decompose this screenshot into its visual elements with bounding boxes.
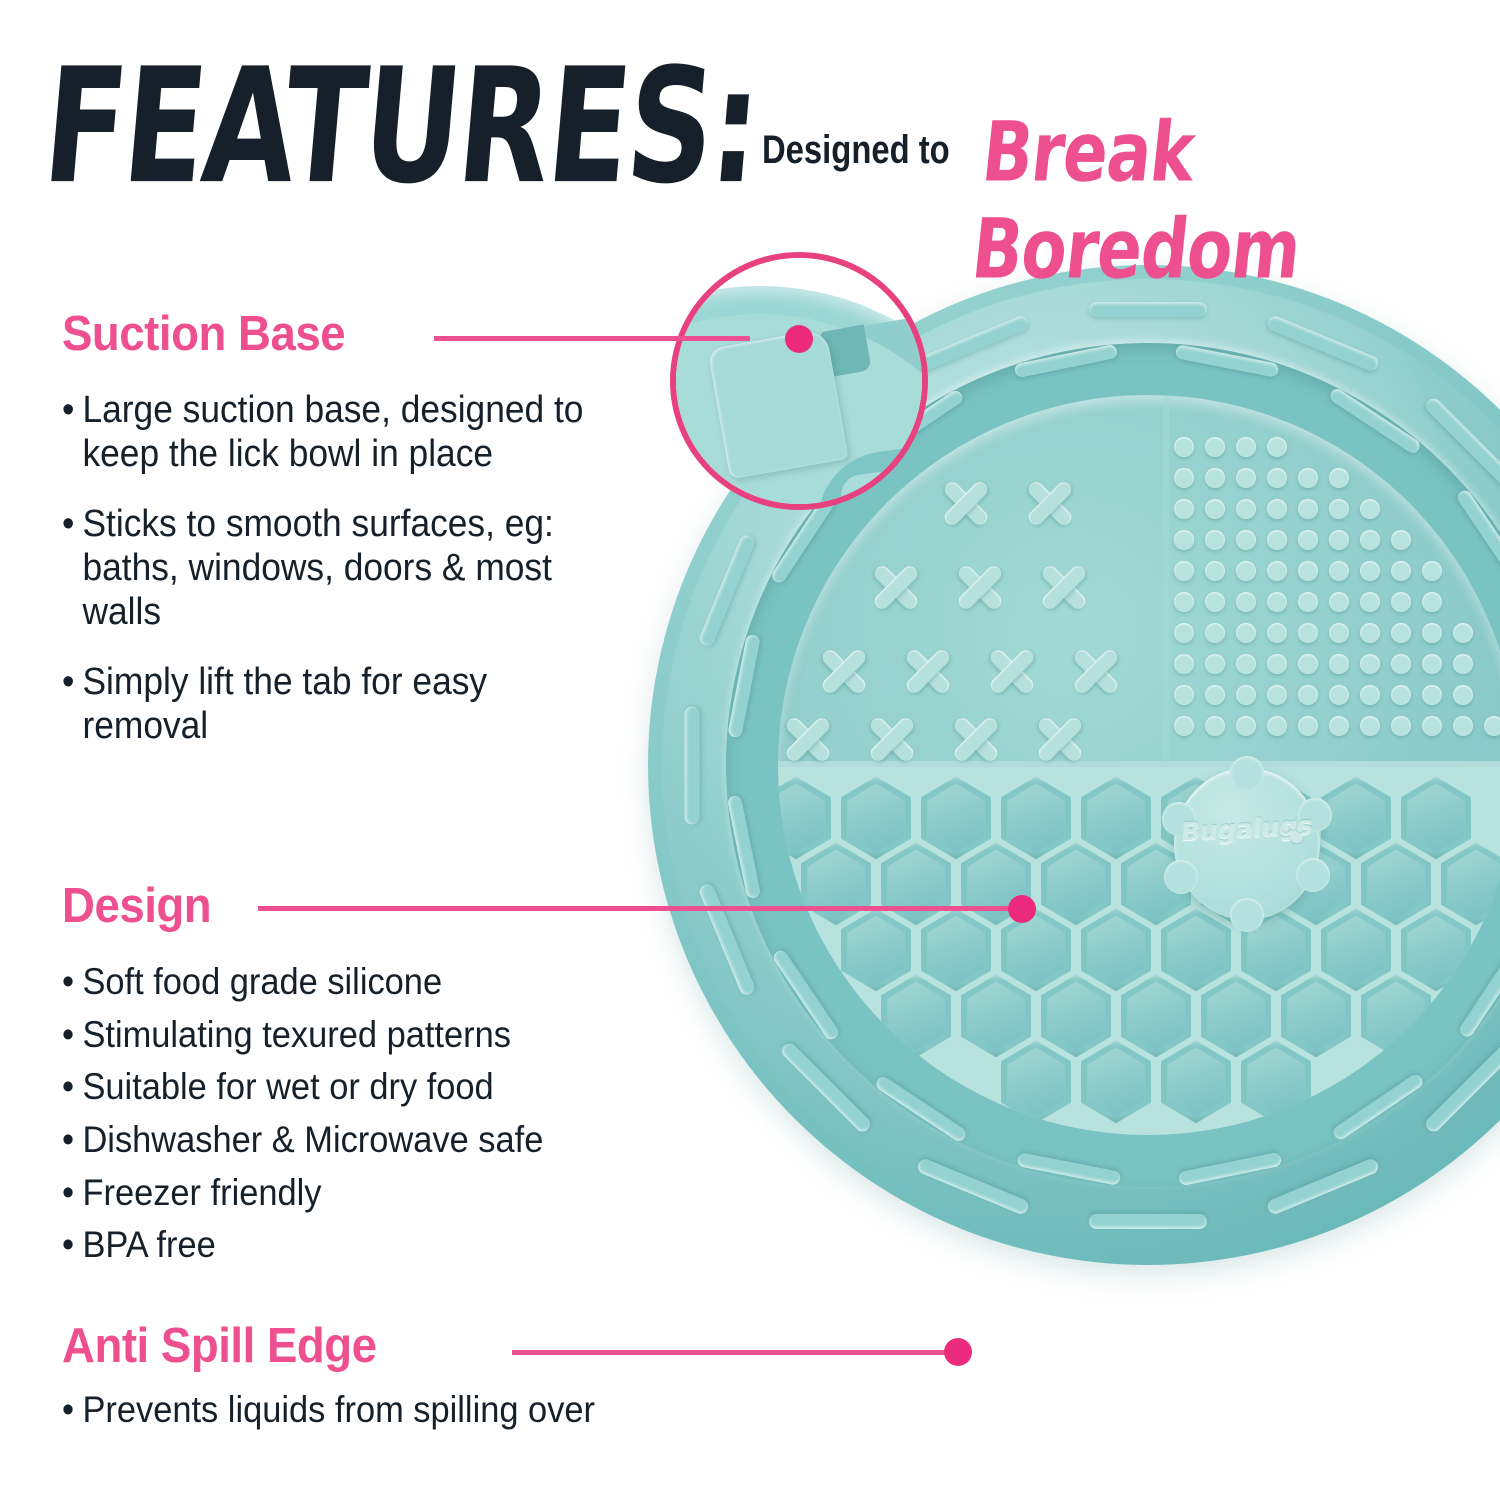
dot-texture-node [1484,716,1500,736]
honeycomb-cell [1318,907,1394,993]
bullet-list-suction-base: •Large suction base, designed to keep th… [62,388,642,775]
list-item: •BPA free [62,1223,601,1267]
dot-texture-node [1298,530,1318,550]
list-item: •Simply lift the tab for easy removal [62,660,601,748]
honeycomb-cell [1118,973,1194,1059]
dot-texture-node [1298,499,1318,519]
brand-badge: Bugalugs [1174,768,1320,920]
dot-texture-node [1267,654,1287,674]
dot-texture-node [1298,654,1318,674]
dot-texture-node [1298,561,1318,581]
dot-texture-node [1174,592,1194,612]
dot-texture-node [1236,716,1256,736]
x-cross-texture-node [1034,713,1086,765]
dot-texture-node [1360,685,1380,705]
rim-arc-groove [1089,1214,1207,1229]
bullet-marker: • [62,1013,82,1057]
honeycomb-cell [798,841,874,927]
list-item-label: Dishwasher & Microwave safe [82,1118,601,1162]
dot-texture-node [1391,685,1411,705]
dot-texture-node [1267,468,1287,488]
bullet-marker: • [62,502,82,546]
dot-texture-node [1205,623,1225,643]
design-connector-dot [1008,895,1036,923]
x-cross-texture-node [1038,561,1090,613]
list-item-label: Stimulating texured patterns [82,1013,601,1057]
list-item: •Sticks to smooth surfaces, eg: baths, w… [62,502,601,634]
dot-texture-node [1422,685,1442,705]
dot-texture-node [1174,716,1194,736]
subtitle-accent: Break Boredom [968,104,1470,298]
dot-texture-node [1329,685,1349,705]
honeycomb-cell [1078,775,1154,861]
x-cross-texture-node [902,645,954,697]
list-item-label: Soft food grade silicone [82,960,601,1004]
honeycomb-cell [1238,1039,1314,1125]
list-item-label: Large suction base, designed to keep the… [82,388,601,476]
honeycomb-cell [998,1039,1074,1125]
dot-texture-node [1360,530,1380,550]
dot-texture-node [1391,716,1411,736]
dot-texture-node [1360,499,1380,519]
honeycomb-cell [1038,973,1114,1059]
dot-texture-node [1329,592,1349,612]
dot-texture-node [1329,716,1349,736]
dot-texture-node [1236,499,1256,519]
dot-texture-node [1422,592,1442,612]
dot-texture-node [1267,623,1287,643]
dot-texture-node [1267,592,1287,612]
dot-texture-node [1391,530,1411,550]
dot-texture-node [1267,716,1287,736]
honeycomb-cell [1398,907,1474,993]
suction-tab-magnifier [670,252,928,510]
list-item: •Dishwasher & Microwave safe [62,1118,601,1162]
dot-texture-node [1329,499,1349,519]
honeycomb-cell [918,907,994,993]
honeycomb-cell [838,775,914,861]
list-item-label: Suitable for wet or dry food [82,1065,601,1109]
dot-texture-node [1236,561,1256,581]
rim-arc-groove [685,706,700,824]
rim-arc-groove [1089,302,1207,317]
dot-texture-node [1205,561,1225,581]
x-cross-texture-node [866,713,918,765]
honeycomb-cell [878,841,954,927]
dot-texture-node [1267,530,1287,550]
bowl-inner-surface [778,395,1500,1135]
dot-texture-node [1236,654,1256,674]
dot-texture-node [1236,437,1256,457]
dot-texture-node [1174,685,1194,705]
dot-texture-node [1298,623,1318,643]
anti-spill-connector-line [512,1350,964,1355]
dot-texture-node [1205,716,1225,736]
honeycomb-cell [1438,841,1500,927]
dot-texture-node [1391,592,1411,612]
honeycomb-cell [1078,1039,1154,1125]
dot-texture-node [1360,592,1380,612]
dot-texture-node [1329,623,1349,643]
honeycomb-cell [958,973,1034,1059]
honeycomb-cell [1398,775,1474,861]
list-item-label: Prevents liquids from spilling over [82,1388,601,1432]
dot-texture-node [1298,685,1318,705]
dot-texture-node [1453,654,1473,674]
anti-spill-connector-dot [944,1338,972,1366]
bullet-marker: • [62,960,82,1004]
dot-texture-node [1453,685,1473,705]
honeycomb-cell [1078,907,1154,993]
dot-texture-node [1267,561,1287,581]
texture-vertical-divider [1163,395,1169,761]
dot-texture-node [1205,437,1225,457]
dot-texture-node [1174,437,1194,457]
dot-texture-node [1329,530,1349,550]
x-cross-texture-node [940,477,992,529]
list-item-label: BPA free [82,1223,601,1267]
dot-texture-node [1391,561,1411,581]
list-item: •Prevents liquids from spilling over [62,1388,601,1432]
list-item: •Stimulating texured patterns [62,1013,601,1057]
dot-texture-node [1236,468,1256,488]
honeycomb-cell [1358,973,1434,1059]
x-cross-texture-node [954,561,1006,613]
page-title: FEATURES: [38,48,764,207]
dot-texture-node [1174,623,1194,643]
suction-base-connector-dot [785,325,813,353]
list-item: •Large suction base, designed to keep th… [62,388,601,476]
honeycomb-texture [778,767,1500,1135]
dot-texture-node [1174,468,1194,488]
dot-texture-node [1298,592,1318,612]
dot-texture-node [1422,654,1442,674]
dot-texture-node [1391,623,1411,643]
header: FEATURES: Designed to Break Boredom [0,0,1500,235]
honeycomb-cell [1158,907,1234,993]
dot-texture-node [1205,654,1225,674]
dot-texture-node [1205,530,1225,550]
dot-texture-node [1236,623,1256,643]
honeycomb-cell [1358,841,1434,927]
bullet-marker: • [62,388,82,432]
section-heading-suction-base: Suction Base [62,306,345,362]
list-item-label: Simply lift the tab for easy removal [82,660,601,748]
dot-texture-node [1174,499,1194,519]
honeycomb-cell [878,973,954,1059]
dot-texture-node [1205,499,1225,519]
bullet-marker: • [62,1118,82,1162]
honeycomb-cell [918,775,994,861]
x-cross-texture-node [1070,645,1122,697]
dot-texture-node [1298,716,1318,736]
honeycomb-cell [1198,973,1274,1059]
x-cross-texture-node [1024,477,1076,529]
honeycomb-cell [1278,973,1354,1059]
honeycomb-cell [998,775,1074,861]
dot-texture-node [1422,561,1442,581]
dot-texture-node [1422,623,1442,643]
section-heading-design: Design [62,878,211,934]
honeycomb-cell [1158,1039,1234,1125]
honeycomb-cell [778,775,834,861]
design-connector-line [258,906,1022,911]
x-cross-texture-node [818,645,870,697]
list-item: •Soft food grade silicone [62,960,601,1004]
dot-texture-node [1329,654,1349,674]
list-item-label: Sticks to smooth surfaces, eg: baths, wi… [82,502,601,634]
list-item: •Freezer friendly [62,1171,601,1215]
dot-texture-node [1391,654,1411,674]
dot-texture-node [1360,623,1380,643]
honeycomb-cell [998,907,1074,993]
dot-texture-node [1174,530,1194,550]
bullet-list-design: •Soft food grade silicone•Stimulating te… [62,960,642,1276]
dot-texture-node [1205,592,1225,612]
dot-texture-node [1267,685,1287,705]
x-cross-texture-node [950,713,1002,765]
bullet-marker: • [62,660,82,704]
bullet-marker: • [62,1388,82,1432]
dot-texture-node [1205,468,1225,488]
subtitle-prefix: Designed to [762,128,950,173]
x-cross-texture-node [782,713,834,765]
dot-texture-node [1298,468,1318,488]
list-item: •Suitable for wet or dry food [62,1065,601,1109]
dot-texture-node [1360,654,1380,674]
dot-texture-node [1360,716,1380,736]
dot-texture-node [1267,437,1287,457]
honeycomb-cell [1038,841,1114,927]
dot-texture-node [1174,654,1194,674]
honeycomb-cell [838,907,914,993]
suction-base-connector-line [434,336,750,341]
section-heading-anti-spill-edge: Anti Spill Edge [62,1318,377,1374]
bullet-marker: • [62,1223,82,1267]
x-cross-texture-node [870,561,922,613]
dot-texture-node [1360,561,1380,581]
x-cross-texture-node [986,645,1038,697]
dot-texture-node [1453,623,1473,643]
dot-texture-node [1329,468,1349,488]
paw-print-icon [1282,824,1306,846]
dot-texture-node [1174,561,1194,581]
dot-texture-node [1267,499,1287,519]
dot-texture-node [1236,530,1256,550]
bullet-marker: • [62,1171,82,1215]
bullet-marker: • [62,1065,82,1109]
dot-texture-node [1422,716,1442,736]
suction-tab [707,329,848,480]
dot-texture-node [1236,685,1256,705]
dot-texture-node [1236,592,1256,612]
dot-texture-node [1329,561,1349,581]
bullet-list-anti-spill-edge: •Prevents liquids from spilling over [62,1388,642,1432]
dot-texture-node [1453,716,1473,736]
list-item-label: Freezer friendly [82,1171,601,1215]
dot-texture-node [1205,685,1225,705]
